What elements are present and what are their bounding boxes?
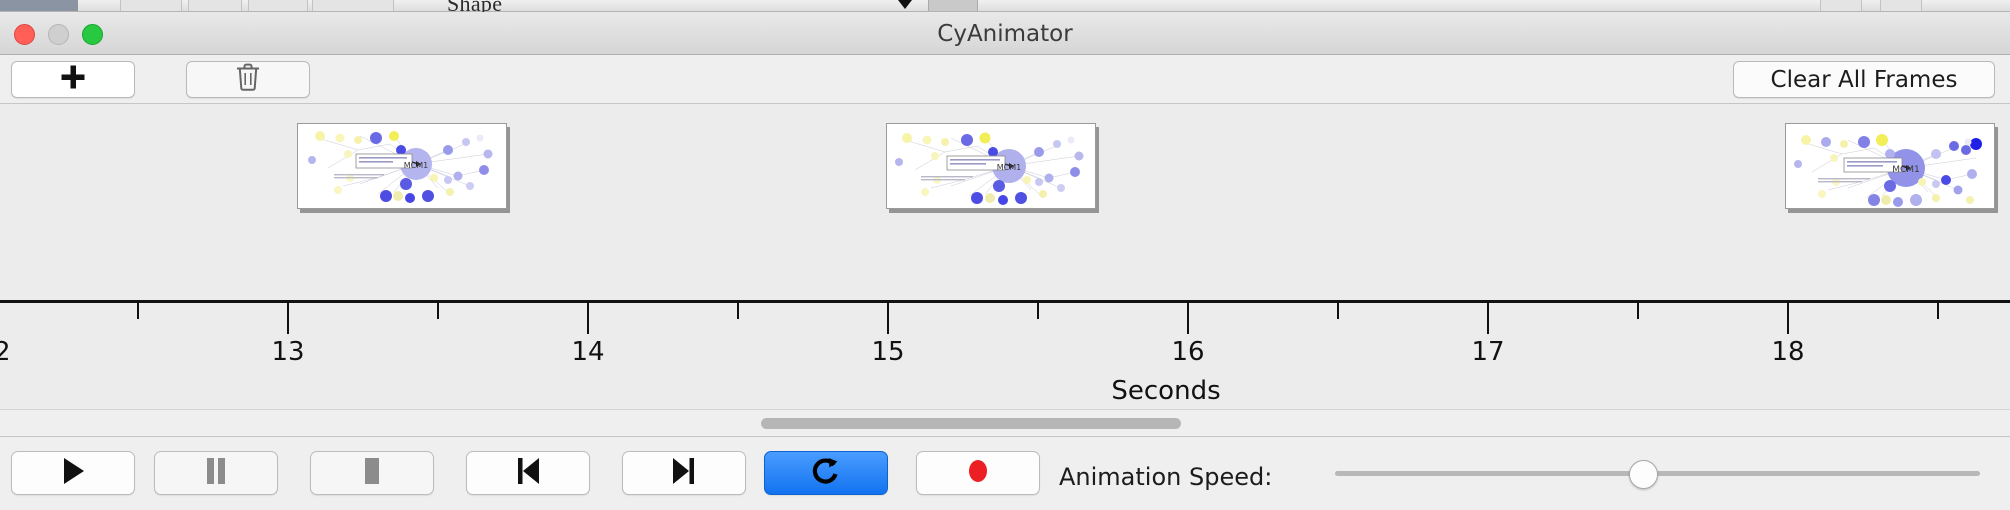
- axis-tick-major: [1487, 303, 1489, 334]
- add-frame-button[interactable]: [11, 61, 135, 98]
- axis-tick-minor: [1037, 303, 1039, 319]
- trash-icon: [235, 63, 261, 96]
- axis-tick-major: [1787, 303, 1789, 334]
- axis-tick-label: 15: [871, 337, 904, 367]
- window-title: CyAnimator: [0, 21, 2010, 47]
- animation-speed-knob[interactable]: [1629, 460, 1658, 489]
- axis-tick-label: 12: [0, 337, 11, 367]
- background-caret-icon: [898, 0, 912, 9]
- svg-text:MCM1: MCM1: [404, 161, 428, 170]
- background-toolbar-chip: [928, 0, 978, 11]
- next-frame-button[interactable]: [622, 451, 746, 495]
- skip-forward-icon: [671, 456, 697, 491]
- axis-tick-major: [587, 303, 589, 334]
- axis-tick-minor: [137, 303, 139, 319]
- loop-button[interactable]: [764, 451, 888, 495]
- timeline-frame-thumbnail[interactable]: MCM1: [1785, 123, 1995, 209]
- axis-tick-label: 14: [571, 337, 604, 367]
- window-titlebar: CyAnimator: [0, 12, 2010, 55]
- axis-tick-label: 13: [271, 337, 304, 367]
- timeline-frame-thumbnail[interactable]: MCM1: [886, 123, 1096, 209]
- timeline-frame-thumbnail[interactable]: MCM1: [297, 123, 507, 209]
- axis-line: [0, 300, 2010, 303]
- playback-controls: Animation Speed:: [0, 437, 2010, 510]
- play-icon: [60, 456, 86, 491]
- stop-icon: [360, 456, 384, 491]
- frame-toolbar: Clear All Frames: [0, 55, 2010, 104]
- loop-icon: [812, 456, 840, 491]
- animation-speed-label: Animation Speed:: [1059, 463, 1272, 491]
- background-window-active-tab: [0, 0, 78, 11]
- cyanimator-window: CyAnimator Clear All Frames: [0, 12, 2010, 510]
- pause-icon: [204, 456, 228, 491]
- record-icon: [964, 456, 992, 491]
- background-toolbar-segment: [312, 0, 394, 11]
- plus-icon: [59, 63, 87, 97]
- clear-all-frames-button[interactable]: Clear All Frames: [1733, 61, 1995, 98]
- animation-speed-slider[interactable]: [1335, 471, 1980, 476]
- axis-tick-minor: [437, 303, 439, 319]
- svg-text:MCM1: MCM1: [997, 163, 1021, 172]
- stop-button[interactable]: [310, 451, 434, 495]
- skip-back-icon: [515, 456, 541, 491]
- svg-text:MCM1: MCM1: [1892, 165, 1920, 175]
- pause-button[interactable]: [154, 451, 278, 495]
- axis-tick-minor: [1337, 303, 1339, 319]
- background-toolbar-segment: [248, 0, 308, 11]
- axis-tick-minor: [737, 303, 739, 319]
- delete-frame-button[interactable]: [186, 61, 310, 98]
- background-toolbar-segment: [120, 0, 182, 11]
- axis-tick-label: 16: [1171, 337, 1204, 367]
- timeline-scrollbar-thumb[interactable]: [761, 418, 1181, 429]
- axis-tick-major: [1187, 303, 1189, 334]
- background-toolbar-segment: [188, 0, 242, 11]
- timeline-scrollbar[interactable]: [0, 409, 2010, 437]
- background-toolbar-segment: [1880, 0, 1922, 11]
- axis-tick-label: 18: [1771, 337, 1804, 367]
- axis-tick-minor: [1937, 303, 1939, 319]
- record-button[interactable]: [916, 451, 1040, 495]
- prev-frame-button[interactable]: [466, 451, 590, 495]
- play-button[interactable]: [11, 451, 135, 495]
- axis-tick-minor: [1637, 303, 1639, 319]
- background-toolbar-segment: [1820, 0, 1862, 11]
- axis-tick-major: [287, 303, 289, 334]
- axis-title: Seconds: [1111, 376, 1220, 406]
- axis-tick-major: [887, 303, 889, 334]
- axis-tick-label: 17: [1471, 337, 1504, 367]
- timeline-axis: 12 13 14 15 16 17 18 Seconds: [0, 300, 2010, 409]
- timeline-area[interactable]: MCM1: [0, 104, 2010, 409]
